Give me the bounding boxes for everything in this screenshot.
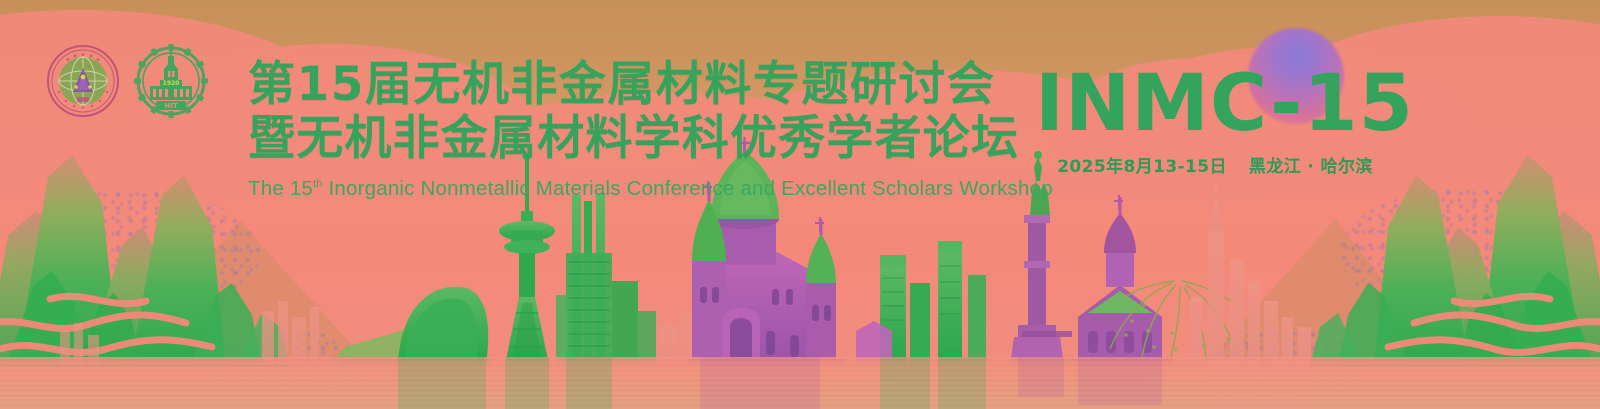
far-city-left xyxy=(262,301,319,365)
conference-title-en: The 15th Inorganic Nonmetallic Materials… xyxy=(248,177,1018,201)
water-shimmer xyxy=(0,357,1600,409)
modern-skyscrapers-left xyxy=(556,193,656,365)
brand-lockup: INMC-15 2025年8月13-15日 黑龙江 · 哈尔滨 xyxy=(1035,62,1395,177)
conference-title-en-prefix: The 15 xyxy=(248,177,313,200)
harbin-institute-of-technology-seal-icon: 1920 HIT xyxy=(134,44,208,118)
svg-text:1920: 1920 xyxy=(163,80,180,87)
far-city-right xyxy=(1190,185,1311,365)
historic-pavilion xyxy=(1070,195,1172,365)
svg-text:HIT: HIT xyxy=(164,102,177,110)
brand-mark: INMC-15 xyxy=(1035,62,1395,146)
conference-title-cn-line1: 第15届无机非金属材料专题研讨会 xyxy=(248,58,1018,112)
conference-title-en-rest: Inorganic Nonmetallic Materials Conferen… xyxy=(323,177,1053,200)
ordinal-suffix: th xyxy=(313,178,323,190)
harbin-grand-theatre xyxy=(330,287,490,365)
chinese-ceramic-society-seal-icon xyxy=(46,44,120,118)
modern-skyscrapers-center xyxy=(856,241,986,365)
conference-location: 黑龙江 · 哈尔滨 xyxy=(1249,152,1373,177)
conference-date: 2025年8月13-15日 xyxy=(1057,152,1227,177)
conference-banner: 1920 HIT 第15届无机非金属材料专题研讨会 暨无机非金属材料学科优秀学者… xyxy=(0,0,1600,409)
conference-title-cn-line2: 暨无机非金属材料学科优秀学者论坛 xyxy=(248,112,1018,166)
title-block: 第15届无机非金属材料专题研讨会 暨无机非金属材料学科优秀学者论坛 The 15… xyxy=(248,58,1018,201)
brand-meta: 2025年8月13-15日 黑龙江 · 哈尔滨 xyxy=(1035,152,1395,177)
organizer-logos: 1920 HIT xyxy=(46,44,208,118)
